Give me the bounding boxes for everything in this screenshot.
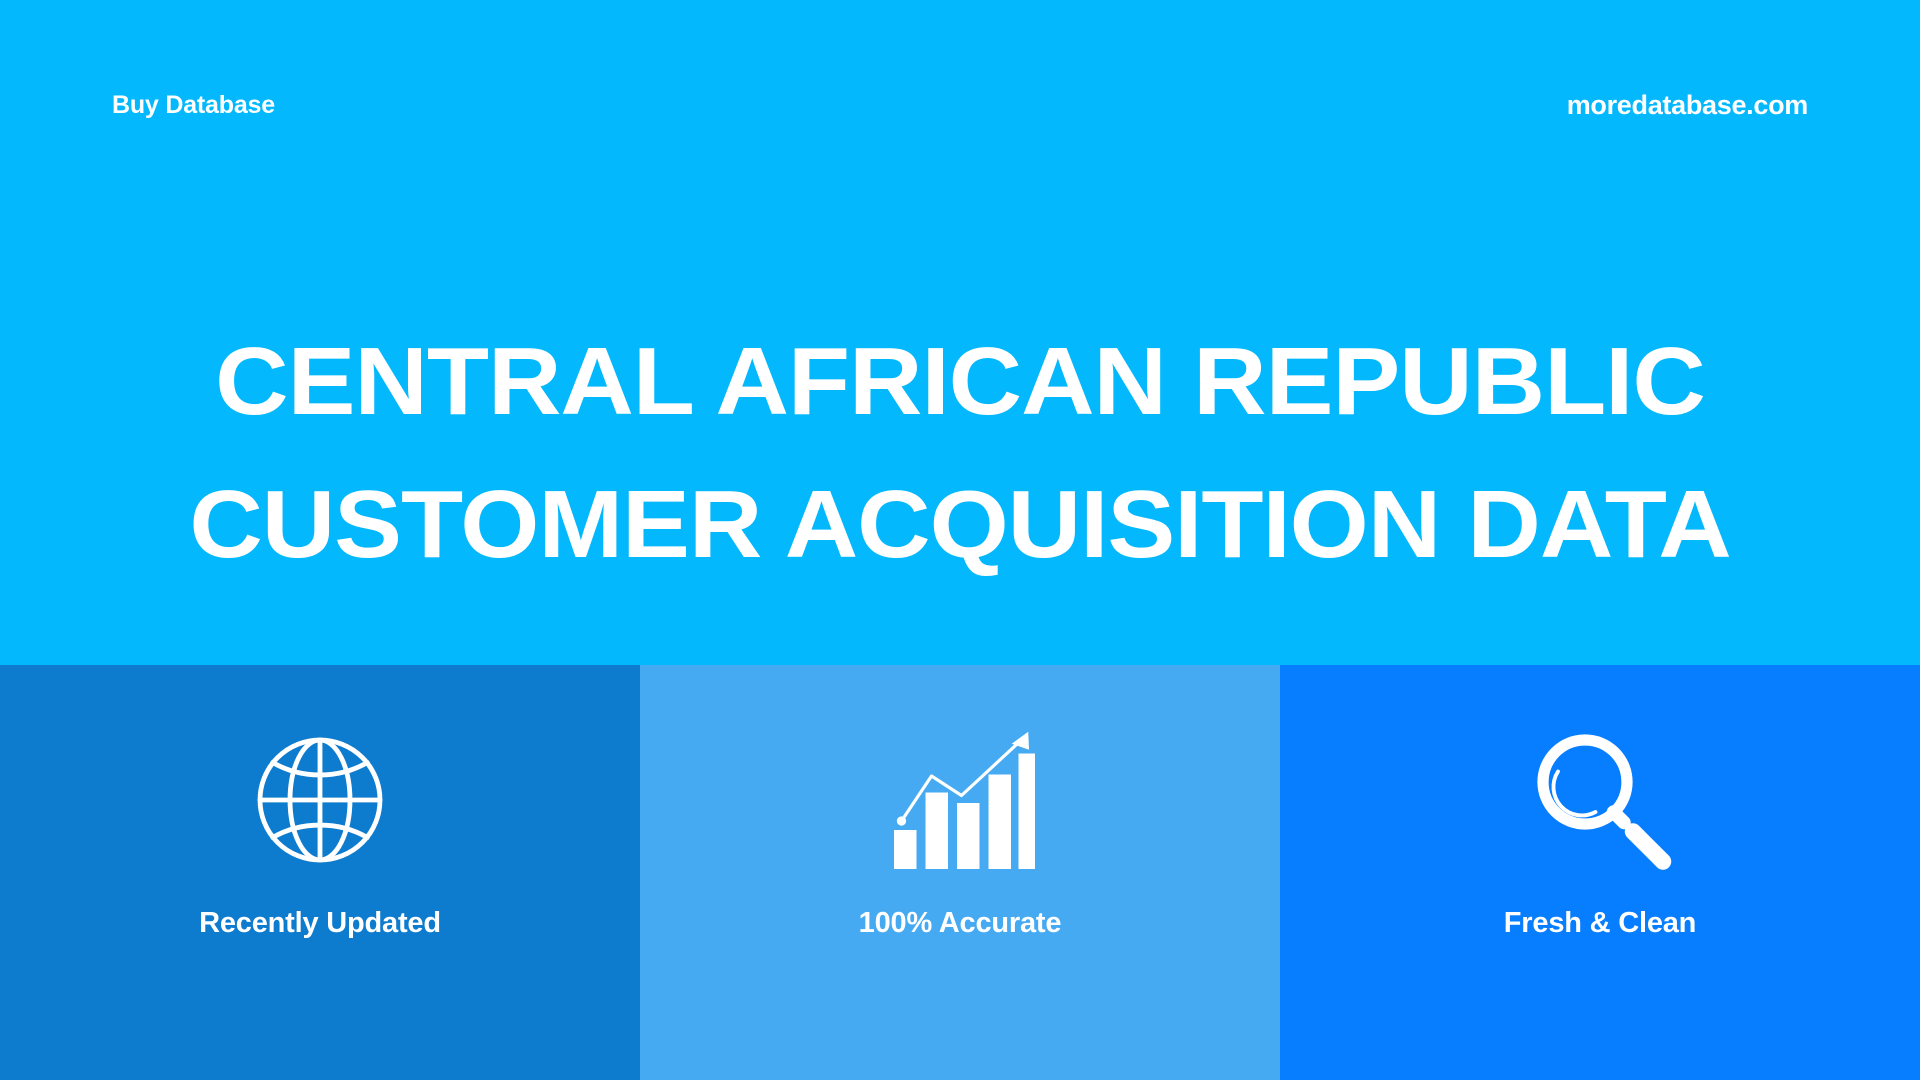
page-title-line-2: CUSTOMER ACQUISITION DATA: [0, 453, 1920, 596]
magnifying-glass-icon: [1525, 725, 1675, 875]
feature-panel-recently-updated: Recently Updated: [0, 665, 640, 1080]
promotional-banner: Buy Database moredatabase.com CENTRAL AF…: [0, 0, 1920, 1080]
top-bar: Buy Database moredatabase.com: [0, 0, 1920, 210]
page-title: CENTRAL AFRICAN REPUBLIC CUSTOMER ACQUIS…: [0, 310, 1920, 596]
feature-label-fresh-clean: Fresh & Clean: [1504, 907, 1696, 940]
feature-label-recently-updated: Recently Updated: [199, 907, 441, 940]
feature-label-accurate: 100% Accurate: [859, 907, 1062, 940]
website-url-label: moredatabase.com: [1567, 90, 1808, 121]
feature-panel-fresh-clean: Fresh & Clean: [1280, 665, 1920, 1080]
feature-panels: Recently Updated: [0, 665, 1920, 1080]
page-title-line-1: CENTRAL AFRICAN REPUBLIC: [0, 310, 1920, 453]
globe-icon: [245, 725, 395, 875]
hero-section: Buy Database moredatabase.com CENTRAL AF…: [0, 0, 1920, 665]
brand-label-left: Buy Database: [112, 91, 275, 120]
feature-panel-accurate: 100% Accurate: [640, 665, 1280, 1080]
bar-chart-growth-icon: [885, 725, 1035, 875]
